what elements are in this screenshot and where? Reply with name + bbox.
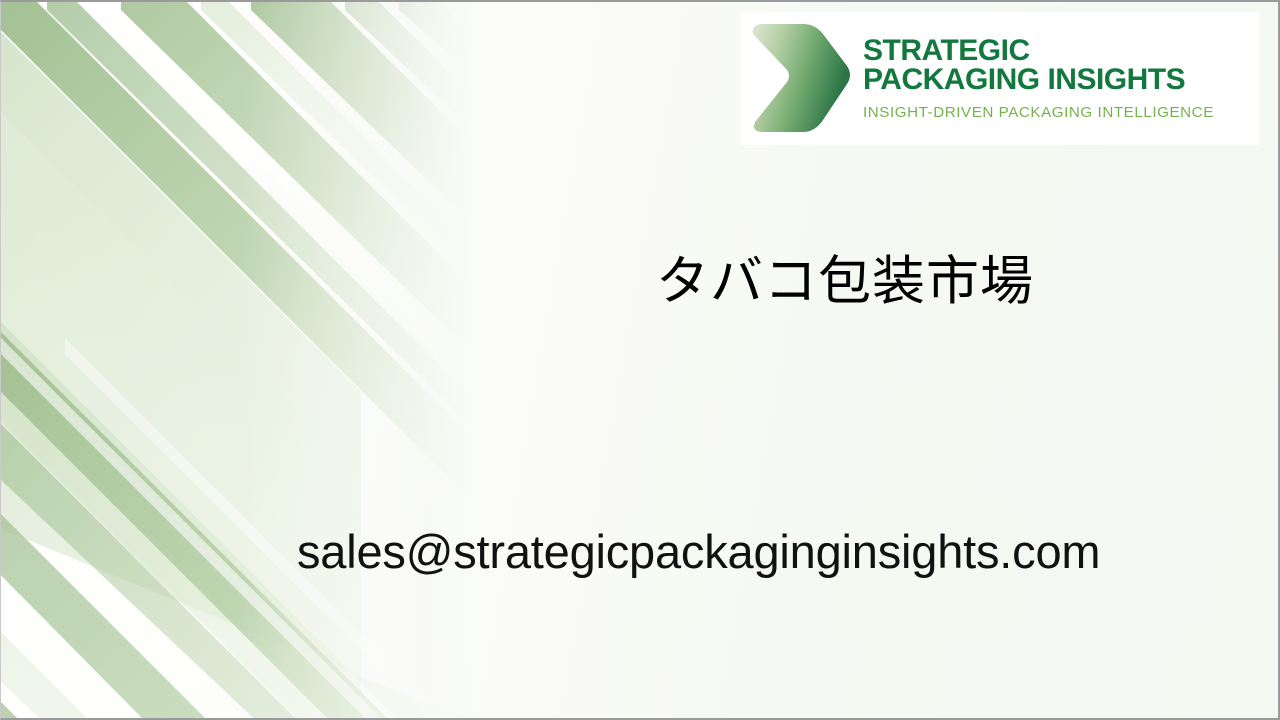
brand-logo: STRATEGIC PACKAGING INSIGHTS INSIGHT-DRI… <box>741 12 1259 145</box>
contact-email[interactable]: sales@strategicpackaginginsights.com <box>297 524 1100 580</box>
chevron-arrow-glyph <box>749 20 853 138</box>
cover-slide: STRATEGIC PACKAGING INSIGHTS INSIGHT-DRI… <box>0 0 1280 720</box>
page-title: タバコ包装市場 <box>656 252 1216 313</box>
brand-logo-text: STRATEGIC PACKAGING INSIGHTS INSIGHT-DRI… <box>857 36 1259 122</box>
decorative-chevron-stripes <box>1 2 471 720</box>
brand-name-line-2: PACKAGING INSIGHTS <box>863 65 1259 94</box>
brand-tagline: INSIGHT-DRIVEN PACKAGING INTELLIGENCE <box>863 104 1259 121</box>
chevron-stripes-graphic <box>1 2 471 720</box>
chevron-arrow-mark-icon <box>745 19 857 139</box>
brand-name-line-1: STRATEGIC <box>863 36 1259 65</box>
